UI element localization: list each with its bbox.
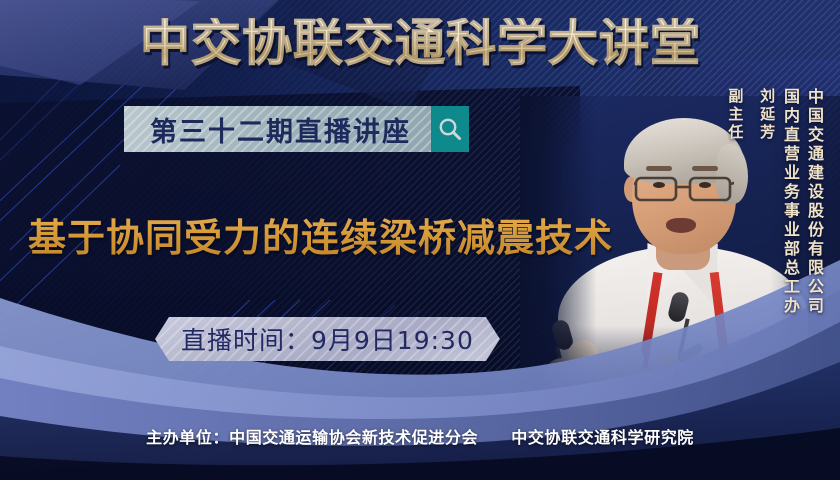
- speaker-department-column: 国内直营业务事业部总工办: [781, 88, 798, 316]
- session-subtitle-body: 第三十二期直播讲座: [124, 106, 431, 152]
- search-icon: [437, 116, 463, 142]
- organizer-footer: 主办单位：中国交通运输协会新技术促进分会 中交协联交通科学研究院: [0, 424, 840, 448]
- speaker-credits: 刘延芳副主任 国内直营业务事业部总工办 中国交通建设股份有限公司: [726, 88, 822, 316]
- session-subtitle-bar: 第三十二期直播讲座: [124, 106, 469, 152]
- speaker-name: 刘延芳: [758, 88, 776, 142]
- page-title: 中交协联交通科学大讲堂: [140, 18, 701, 68]
- broadcast-time-label: 直播时间：9月9日19:30: [181, 321, 474, 357]
- lecture-topic-title: 基于协同受力的连续梁桥减震技术: [28, 207, 613, 262]
- session-subtitle-label: 第三十二期直播讲座: [150, 110, 411, 149]
- live-broadcast-poster: 中交协联交通科学大讲堂 第三十二期直播讲座 基于协同受力的连续梁桥减震技术 直播…: [0, 0, 840, 480]
- broadcast-time-banner: 直播时间：9月9日19:30: [155, 317, 500, 361]
- speaker-name-title-column: 刘延芳副主任: [726, 88, 774, 142]
- search-button[interactable]: [431, 106, 469, 152]
- speaker-job-title: 副主任: [726, 88, 744, 142]
- speaker-company-column: 中国交通建设股份有限公司: [805, 88, 822, 316]
